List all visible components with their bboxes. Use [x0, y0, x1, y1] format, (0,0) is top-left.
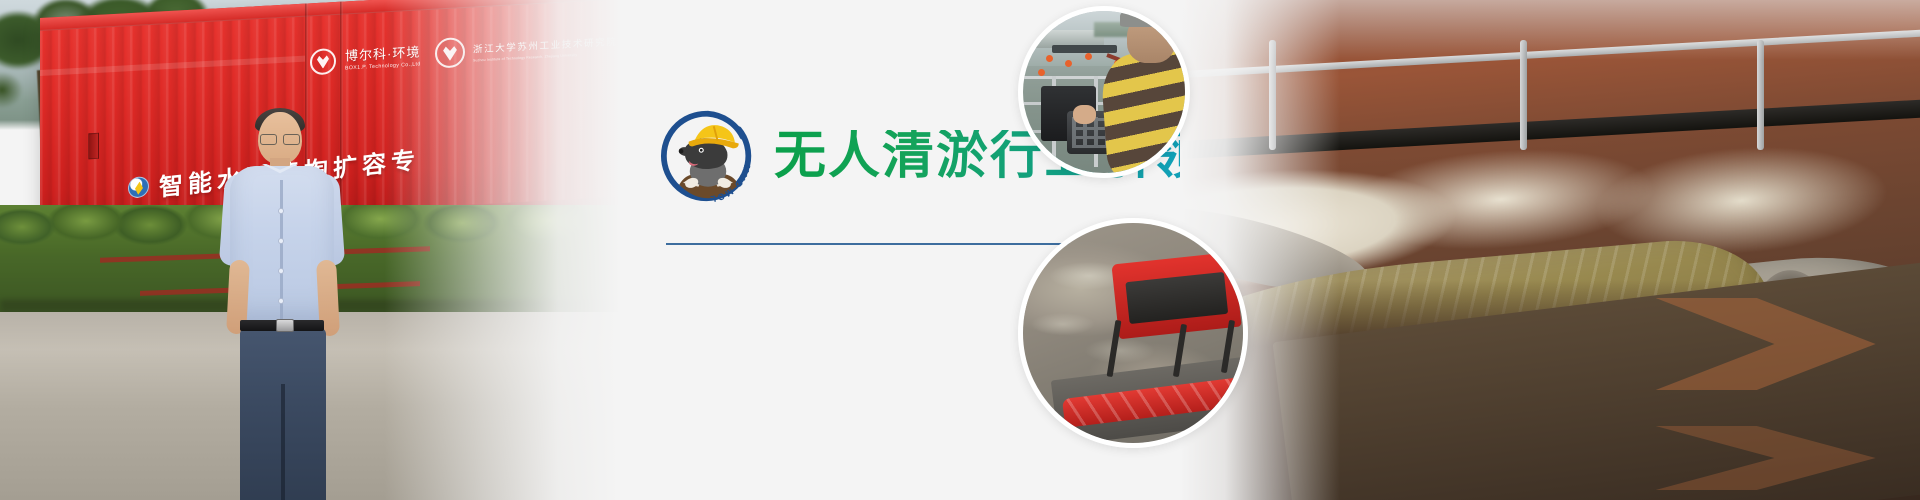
container-brand-cn: 博尔科·环境: [345, 45, 421, 63]
person-shirt-button: [278, 268, 284, 274]
slogan-badge-icon: [128, 176, 149, 199]
operator-cap: [1120, 8, 1178, 27]
moored-boat: [1052, 45, 1117, 53]
eyeglasses-icon: [260, 134, 300, 143]
orange-buoy: [1065, 60, 1072, 67]
operator-hand: [1073, 105, 1096, 124]
person-shirt-button: [278, 208, 284, 214]
handrail-post: [1520, 40, 1527, 150]
boerke-emblem-icon: [310, 48, 336, 75]
hero-banner: 博尔科·环境 BOX1.P. Technology Co.,Ltd 浙江大学苏州…: [0, 0, 1920, 500]
person-trousers: [240, 328, 326, 500]
container-latch: [88, 133, 99, 160]
sludge-discharge-pipe-photo: [1180, 0, 1920, 500]
person-belt-buckle: [276, 319, 294, 332]
operator-remote-control-photo: [1018, 6, 1190, 178]
operator-striped-shirt: [1100, 50, 1190, 178]
person-portrait: [222, 112, 342, 500]
dredger-frame: [1112, 252, 1242, 339]
person-shirt-button: [278, 298, 284, 304]
person-shirt-button: [278, 238, 284, 244]
orange-buoy: [1085, 53, 1092, 60]
mud-mole-logo: MUD MOLE: [660, 108, 756, 204]
left-photo: 博尔科·环境 BOX1.P. Technology Co.,Ltd 浙江大学苏州…: [0, 0, 620, 500]
dredging-robot-photo: [1018, 218, 1248, 448]
handrail-post: [1269, 40, 1276, 150]
orange-buoy: [1046, 55, 1053, 62]
university-emblem-icon: [435, 37, 465, 69]
handrail-post: [1757, 40, 1764, 150]
